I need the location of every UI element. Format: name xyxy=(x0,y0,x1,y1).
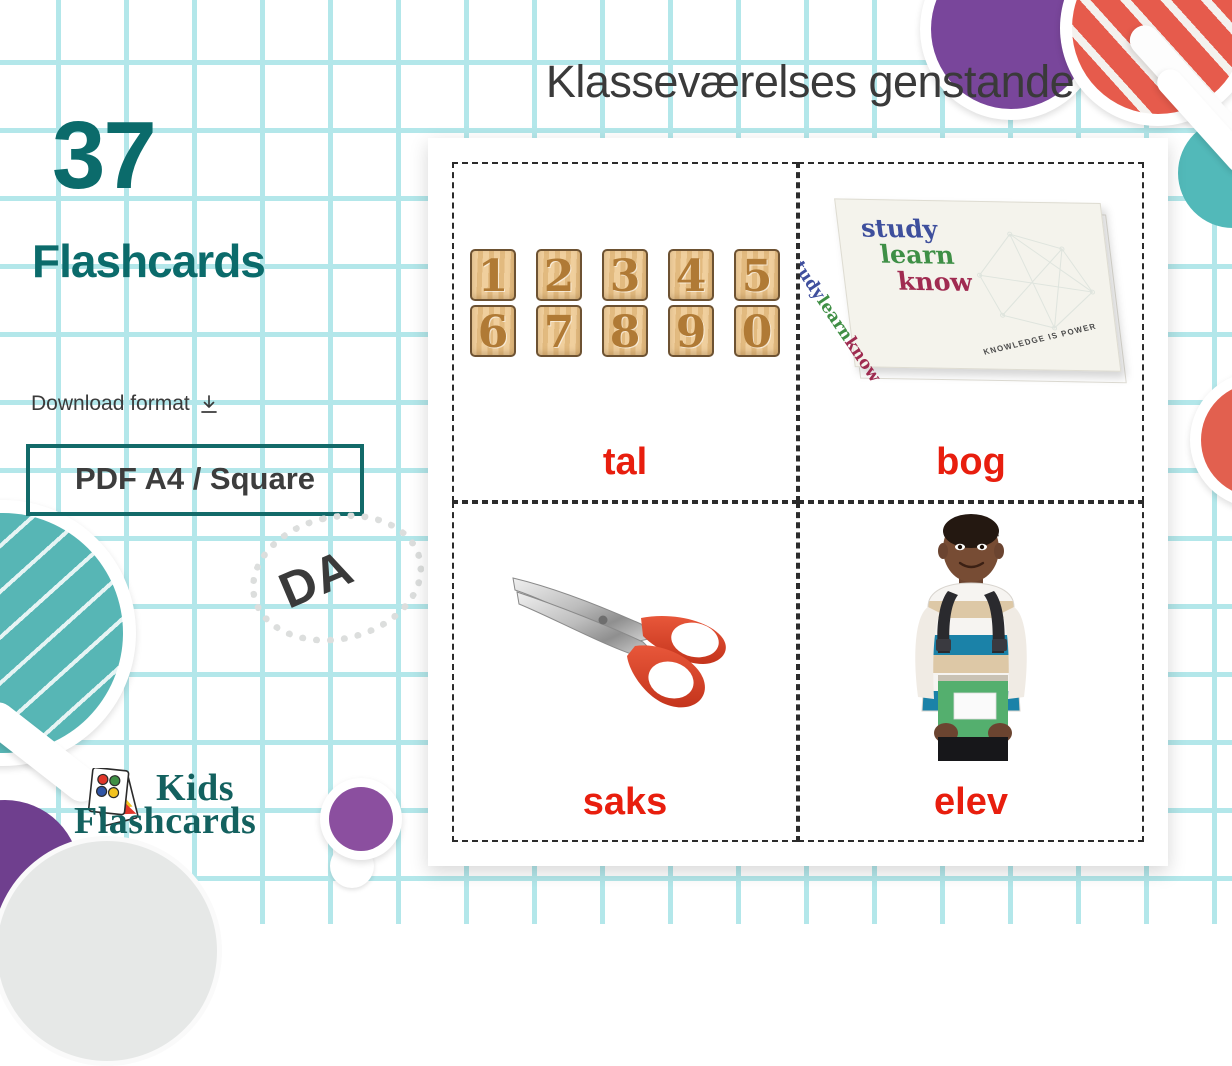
wooden-number: 1 xyxy=(470,249,516,301)
flashcard-grid: 1 2 3 4 5 6 7 8 9 0 tal xyxy=(452,162,1144,842)
flashcard-art-numbers: 1 2 3 4 5 6 7 8 9 0 xyxy=(454,164,796,428)
scissors-art xyxy=(495,546,755,726)
flashcard-art-scissors xyxy=(454,504,796,768)
book-title-line2: learn xyxy=(879,242,971,270)
download-icon xyxy=(199,394,219,415)
wooden-number: 3 xyxy=(602,249,648,301)
wooden-numbers-art: 1 2 3 4 5 6 7 8 9 0 xyxy=(470,235,780,357)
book-art: study learn know KNOWLEDGE IS POWER stud… xyxy=(811,183,1132,408)
wooden-numbers-row-2: 6 7 8 9 0 xyxy=(470,305,780,357)
download-format-label: Download format xyxy=(31,392,190,416)
wooden-number: 8 xyxy=(602,305,648,357)
wooden-number: 4 xyxy=(668,249,714,301)
flashcard-art-student xyxy=(800,504,1142,768)
wooden-number: 2 xyxy=(536,249,582,301)
book-cover: study learn know KNOWLEDGE IS POWER xyxy=(834,198,1121,371)
book-title-line1: study xyxy=(859,216,967,244)
wooden-number: 9 xyxy=(668,305,714,357)
book-title-line3: know xyxy=(896,268,974,295)
download-format-select[interactable]: PDF A4 / Square xyxy=(26,444,364,516)
download-format-row: Download format xyxy=(31,392,219,416)
wooden-numbers-row-1: 1 2 3 4 5 xyxy=(470,249,780,301)
left-info-panel: 37 Flashcards Download format PDF A4 / S… xyxy=(0,0,430,924)
wooden-number: 6 xyxy=(470,305,516,357)
student-art xyxy=(876,511,1066,761)
flashcard-count-label: Flashcards xyxy=(32,238,265,284)
brand-name-line2: Flashcards xyxy=(74,799,256,843)
book-title: study learn know xyxy=(859,216,973,296)
flashcard-art-book: study learn know KNOWLEDGE IS POWER stud… xyxy=(800,164,1142,428)
flashcard-word: tal xyxy=(603,441,647,484)
download-format-value: PDF A4 / Square xyxy=(75,461,315,497)
flashcard-saks[interactable]: saks xyxy=(452,502,798,842)
brand-logo[interactable]: Kids Flashcards xyxy=(84,766,384,856)
book-network-graphic xyxy=(962,215,1108,336)
flashcard-word: saks xyxy=(583,781,668,824)
language-badge: DA xyxy=(249,514,425,642)
flashcard-word: elev xyxy=(934,781,1008,824)
flashcard-word: bog xyxy=(936,441,1006,484)
flashcard-tal[interactable]: 1 2 3 4 5 6 7 8 9 0 tal xyxy=(452,162,798,502)
flashcard-bog[interactable]: study learn know KNOWLEDGE IS POWER stud… xyxy=(798,162,1144,502)
wooden-number: 7 xyxy=(536,305,582,357)
page-title: Klasseværelses genstande xyxy=(430,56,1190,108)
flashcard-sheet: 1 2 3 4 5 6 7 8 9 0 tal xyxy=(428,138,1168,866)
wooden-number: 0 xyxy=(734,305,780,357)
wooden-number: 5 xyxy=(734,249,780,301)
flashcard-elev[interactable]: elev xyxy=(798,502,1144,842)
flashcard-count: 37 xyxy=(52,108,155,204)
